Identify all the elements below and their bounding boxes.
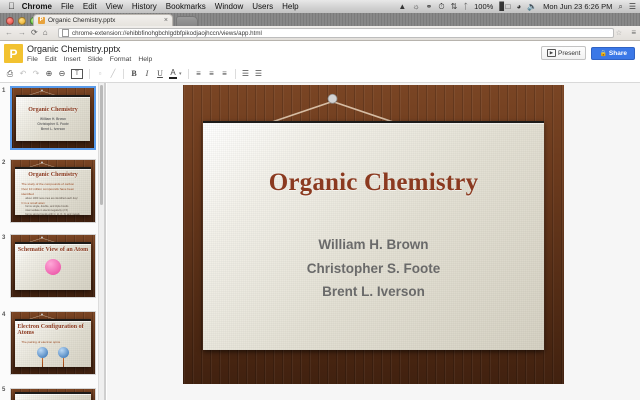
app-header: P Organic Chemistry.pptx File Edit Inser… xyxy=(0,41,640,66)
toolbar-group-insert: ▫ ╱ xyxy=(90,66,123,82)
header-actions: ▶ Present 🔒 Share xyxy=(541,46,635,60)
bold-icon[interactable]: B xyxy=(130,70,138,78)
shape-icon[interactable]: ▫ xyxy=(96,70,104,78)
tab-title: Organic Chemistry.pptx xyxy=(48,17,162,24)
numbered-list-icon[interactable]: ☰ xyxy=(242,70,250,78)
atom-diagram-icon xyxy=(45,259,61,275)
os-menu-bar:  Chrome File Edit View History Bookmark… xyxy=(0,0,640,14)
browser-tab-strip: P Organic Chemistry.pptx × xyxy=(0,13,640,26)
panel-splitter[interactable] xyxy=(104,83,106,400)
toolbar-group-file: ⎙ ↶ ↷ ⊕ ⊖ T xyxy=(0,66,89,82)
tab-close-icon[interactable]: × xyxy=(164,17,168,24)
app-menu-bar: File Edit Insert Slide Format Help xyxy=(27,56,152,63)
slide-bullet-list: The pairing of electron spins xyxy=(17,340,88,345)
slide-number: 1 xyxy=(2,88,5,94)
slide-title[interactable]: Organic Chemistry xyxy=(269,169,479,197)
os-menu-edit[interactable]: Edit xyxy=(83,2,97,11)
slide-canvas[interactable]: Organic Chemistry William H. Brown Chris… xyxy=(107,83,640,400)
link-icon[interactable]: ⚭ xyxy=(426,3,433,11)
os-menu-chrome[interactable]: Chrome xyxy=(22,2,52,11)
os-clock[interactable]: Mon Jun 23 6:26 PM xyxy=(543,2,612,11)
battery-icon[interactable]: ▊□ xyxy=(499,3,510,11)
slide-board[interactable]: Organic Chemistry William H. Brown Chris… xyxy=(203,121,544,350)
forward-button[interactable]: → xyxy=(18,29,26,37)
slide-artwork: Electron Configuration of Atoms The pair… xyxy=(11,312,95,374)
document-title[interactable]: Organic Chemistry.pptx xyxy=(27,44,120,54)
current-slide[interactable]: Organic Chemistry William H. Brown Chris… xyxy=(183,85,564,384)
slide-thumbnail-5[interactable] xyxy=(10,388,96,400)
slide-artwork: Organic Chemistry William H. Brown Chris… xyxy=(12,88,94,148)
list-item[interactable]: 2 Organic Chemistry The study of the com… xyxy=(0,156,104,231)
spheres-diagram-icon xyxy=(37,347,69,367)
print-icon[interactable]: ⎙ xyxy=(6,70,14,78)
sync-icon[interactable]: ⇅ xyxy=(451,3,458,11)
toolbar-group-lists: ☰ ☰ xyxy=(236,66,269,82)
slide-author-3[interactable]: Brent L. Iverson xyxy=(322,280,425,303)
zoom-out-icon[interactable]: ⊖ xyxy=(58,70,66,78)
list-item[interactable]: 4 Electron Configuration of Atoms The pa… xyxy=(0,308,104,385)
slide-author: Brent L. Iverson xyxy=(41,127,65,132)
slide-author-2[interactable]: Christopher S. Foote xyxy=(307,257,441,280)
slide-number: 3 xyxy=(2,235,5,241)
timemachine-icon[interactable]: ⏱ xyxy=(438,3,444,11)
align-right-icon[interactable]: ≡ xyxy=(221,70,229,78)
os-menu-help[interactable]: Help xyxy=(282,2,298,11)
menu-edit[interactable]: Edit xyxy=(45,56,57,63)
bell-icon[interactable]: ☼ xyxy=(412,3,419,11)
search-icon[interactable]: ⌕ xyxy=(618,3,622,11)
address-bar-text: chrome-extension://ehibbfinohgbchlgdbfpi… xyxy=(72,30,262,37)
menu-file[interactable]: File xyxy=(27,56,38,63)
list-item: The pairing of electron spins xyxy=(21,340,84,345)
align-center-icon[interactable]: ≡ xyxy=(208,70,216,78)
slide-number: 5 xyxy=(2,387,5,393)
os-menu-users[interactable]: Users xyxy=(252,2,273,11)
volume-icon[interactable]: 🔈 xyxy=(527,3,537,11)
editor-toolbar: ⎙ ↶ ↷ ⊕ ⊖ T ▫ ╱ B I U A ▾ ≡ ≡ ≡ ☰ ☰ xyxy=(0,66,640,83)
align-left-icon[interactable]: ≡ xyxy=(195,70,203,78)
play-icon: ▶ xyxy=(547,49,556,57)
address-bar[interactable]: chrome-extension://ehibbfinohgbchlgdbfpi… xyxy=(58,28,614,38)
menu-help[interactable]: Help xyxy=(138,56,152,63)
slide-board xyxy=(15,392,90,400)
list-item: forms strong bonds with C, H, O, N, and … xyxy=(21,213,84,215)
slide-title: Electron Configuration of Atoms xyxy=(17,324,88,336)
slide-board: Organic Chemistry The study of the compo… xyxy=(15,167,90,214)
os-menu-window[interactable]: Window xyxy=(215,2,243,11)
list-item[interactable]: 3 Schematic View of an Atom xyxy=(0,231,104,308)
slide-number: 2 xyxy=(2,160,5,166)
reload-button[interactable]: ⟳ xyxy=(31,29,38,37)
slide-title: Organic Chemistry xyxy=(28,107,78,113)
slide-board: Schematic View of an Atom xyxy=(15,242,90,289)
slide-artwork xyxy=(11,389,95,400)
page-info-icon[interactable] xyxy=(62,29,69,37)
text-color-icon[interactable]: A xyxy=(169,69,177,79)
chevron-down-icon[interactable]: ▾ xyxy=(179,71,182,77)
browser-toolbar: ← → ⟳ ⌂ chrome-extension://ehibbfinohgbc… xyxy=(0,26,640,41)
menu-format[interactable]: Format xyxy=(110,56,132,63)
present-button[interactable]: ▶ Present xyxy=(541,46,586,60)
slide-filmstrip[interactable]: 1 Organic Chemistry William H. Brown Chr… xyxy=(0,83,104,400)
os-menu-history[interactable]: History xyxy=(132,2,157,11)
share-button-label: Share xyxy=(609,50,627,57)
list-item: Over 10 million compounds have been iden… xyxy=(21,187,84,197)
minimize-window-button[interactable] xyxy=(18,17,26,25)
app-logo-icon: P xyxy=(4,44,23,63)
line-icon[interactable]: ╱ xyxy=(109,70,117,78)
os-menu-file[interactable]: File xyxy=(61,2,74,11)
dropbox-icon[interactable]: ▲ xyxy=(398,3,406,11)
text-box-icon[interactable]: T xyxy=(71,69,83,79)
share-button[interactable]: 🔒 Share xyxy=(591,47,635,60)
wifi-icon[interactable]: ◕ xyxy=(516,3,521,11)
work-area: 1 Organic Chemistry William H. Brown Chr… xyxy=(0,83,640,400)
screen:  Chrome File Edit View History Bookmark… xyxy=(0,0,640,400)
slide-title: Organic Chemistry xyxy=(28,172,78,178)
list-item[interactable]: 5 xyxy=(0,385,104,400)
apple-logo-icon[interactable]:  xyxy=(8,2,15,11)
slide-number: 4 xyxy=(2,312,5,318)
list-item[interactable]: 1 Organic Chemistry William H. Brown Chr… xyxy=(0,83,104,156)
bluetooth-icon[interactable]: ᛏ xyxy=(463,3,468,11)
star-icon[interactable]: ☆ xyxy=(616,29,622,37)
os-menu-items: Chrome File Edit View History Bookmarks … xyxy=(22,2,299,11)
os-menu-bookmarks[interactable]: Bookmarks xyxy=(166,2,206,11)
slide-board: Electron Configuration of Atoms The pair… xyxy=(15,319,90,366)
present-button-label: Present xyxy=(558,50,580,57)
lock-icon: 🔒 xyxy=(599,50,606,57)
os-menu-view[interactable]: View xyxy=(106,2,123,11)
toolbar-group-align: ≡ ≡ ≡ xyxy=(189,66,235,82)
tab-favicon-icon: P xyxy=(38,17,45,24)
slide-title: Schematic View of an Atom xyxy=(18,247,88,253)
browser-tab[interactable]: P Organic Chemistry.pptx × xyxy=(33,14,173,26)
filmstrip-scrollbar-thumb[interactable] xyxy=(100,85,103,205)
slide-thumbnail-3[interactable]: Schematic View of an Atom xyxy=(10,234,96,298)
redo-icon[interactable]: ↷ xyxy=(32,70,40,78)
underline-icon[interactable]: U xyxy=(156,70,164,78)
close-window-button[interactable] xyxy=(6,17,14,25)
hamburger-menu-icon[interactable]: ≡ xyxy=(631,28,636,38)
italic-icon[interactable]: I xyxy=(143,70,151,78)
battery-percent-label: 100% xyxy=(474,2,493,11)
slide-author-1[interactable]: William H. Brown xyxy=(318,233,428,256)
zoom-in-icon[interactable]: ⊕ xyxy=(45,70,53,78)
toolbar-group-format: B I U A ▾ xyxy=(124,66,188,82)
menu-insert[interactable]: Insert xyxy=(64,56,81,63)
slide-artwork: Schematic View of an Atom xyxy=(11,235,95,297)
menu-slide[interactable]: Slide xyxy=(88,56,103,63)
slide-thumbnail-2[interactable]: Organic Chemistry The study of the compo… xyxy=(10,159,96,223)
notification-center-icon[interactable]: ☰ xyxy=(629,3,636,11)
home-button[interactable]: ⌂ xyxy=(43,29,48,37)
os-status-items: ▲ ☼ ⚭ ⏱ ⇅ ᛏ 100% ▊□ ◕ 🔈 Mon Jun 23 6:26 … xyxy=(398,0,636,13)
slide-thumbnail-4[interactable]: Electron Configuration of Atoms The pair… xyxy=(10,311,96,375)
undo-icon[interactable]: ↶ xyxy=(19,70,27,78)
slide-bullet-list: The study of the compounds of carbon Ove… xyxy=(17,182,88,214)
slide-artwork: Organic Chemistry The study of the compo… xyxy=(11,160,95,222)
bulleted-list-icon[interactable]: ☰ xyxy=(255,70,263,78)
slide-board: Organic Chemistry William H. Brown Chris… xyxy=(16,95,90,141)
slide-thumbnail-1[interactable]: Organic Chemistry William H. Brown Chris… xyxy=(10,86,96,150)
back-button[interactable]: ← xyxy=(5,29,13,37)
